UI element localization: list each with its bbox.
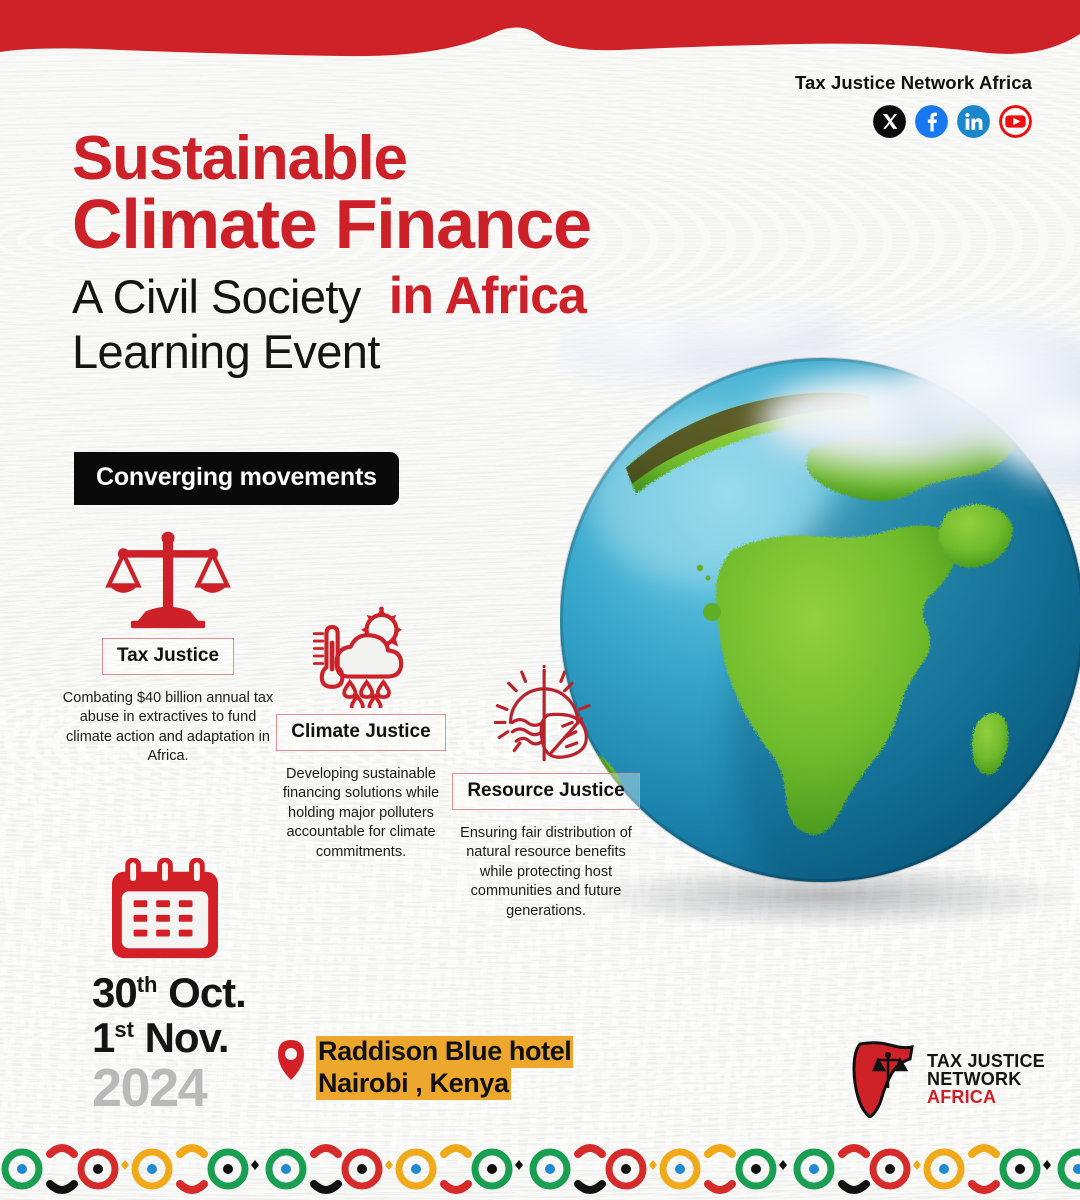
facebook-icon[interactable] — [915, 105, 948, 138]
poster-canvas: Tax Justice Network Africa — [0, 0, 1080, 1200]
headline-in-africa: in Africa — [389, 266, 586, 326]
sun-water-leaf-icon — [448, 655, 644, 767]
pillar-label-tax-justice: Tax Justice — [102, 638, 234, 675]
pillar-desc-climate-justice: Developing sustainable financing solutio… — [268, 765, 454, 862]
linkedin-icon[interactable] — [957, 105, 990, 138]
pillar-climate-justice: Climate Justice Developing sustainable f… — [268, 596, 454, 862]
event-dates: 30th Oct. 1st Nov. 2024 — [92, 971, 246, 1116]
venue-text: Raddison Blue hotel Nairobi , Kenya — [316, 1036, 573, 1100]
org-name: Tax Justice Network Africa — [795, 72, 1032, 94]
youtube-icon[interactable] — [999, 105, 1032, 138]
pillar-tax-justice: Tax Justice Combating $40 billion annual… — [60, 520, 276, 767]
venue-line-1: Raddison Blue hotel — [316, 1036, 573, 1068]
headline-block: Sustainable Climate Finance A Civil Soci… — [72, 130, 772, 376]
headline-line-2: Climate Finance — [72, 191, 772, 258]
scales-of-justice-icon — [60, 520, 276, 632]
venue-line-2: Nairobi , Kenya — [316, 1068, 511, 1100]
subtitle-line-2: Learning Event — [72, 328, 772, 376]
date-line-2: 1st Nov. — [92, 1016, 246, 1061]
date-1-day: 30 — [92, 969, 137, 1016]
logo-line-1: TAX JUSTICE — [927, 1052, 1045, 1070]
subtitle-line-1: A Civil Society — [72, 273, 361, 321]
event-date-block: 30th Oct. 1st Nov. 2024 — [92, 858, 246, 1116]
pillar-desc-tax-justice: Combating $40 billion annual tax abuse i… — [60, 689, 276, 767]
headline-line-1: Sustainable — [72, 130, 772, 189]
pillar-label-resource-justice: Resource Justice — [452, 773, 639, 810]
logo-line-2: NETWORK — [927, 1070, 1045, 1088]
pillar-label-climate-justice: Climate Justice — [276, 714, 445, 751]
date-2-ordinal: st — [114, 1017, 134, 1042]
pillar-resource-justice: Resource Justice Ensuring fair distribut… — [448, 655, 644, 921]
date-1-month: Oct. — [168, 969, 246, 1016]
event-year: 2024 — [92, 1061, 246, 1116]
converging-movements-badge: Converging movements — [74, 452, 399, 505]
map-pin-icon — [276, 1039, 306, 1085]
date-line-1: 30th Oct. — [92, 971, 246, 1016]
calendar-icon — [106, 858, 224, 964]
date-2-month: Nov. — [145, 1014, 229, 1061]
african-decorative-pattern-band — [0, 1138, 1080, 1200]
red-wave-banner — [0, 0, 1080, 62]
social-icons-row — [795, 105, 1032, 138]
logo-line-3: AFRICA — [927, 1088, 1045, 1106]
tjna-logo: TAX JUSTICE NETWORK AFRICA — [848, 1040, 1045, 1118]
date-2-day: 1 — [92, 1014, 114, 1061]
pillar-desc-resource-justice: Ensuring fair distribution of natural re… — [448, 824, 644, 921]
logo-wordmark: TAX JUSTICE NETWORK AFRICA — [927, 1052, 1045, 1106]
date-1-ordinal: th — [137, 972, 158, 997]
venue-block: Raddison Blue hotel Nairobi , Kenya — [276, 1036, 573, 1100]
africa-scales-logo-icon — [848, 1040, 918, 1118]
x-twitter-icon[interactable] — [873, 105, 906, 138]
social-block: Tax Justice Network Africa — [795, 72, 1032, 138]
thermometer-cloud-sun-rain-icon — [268, 596, 454, 708]
